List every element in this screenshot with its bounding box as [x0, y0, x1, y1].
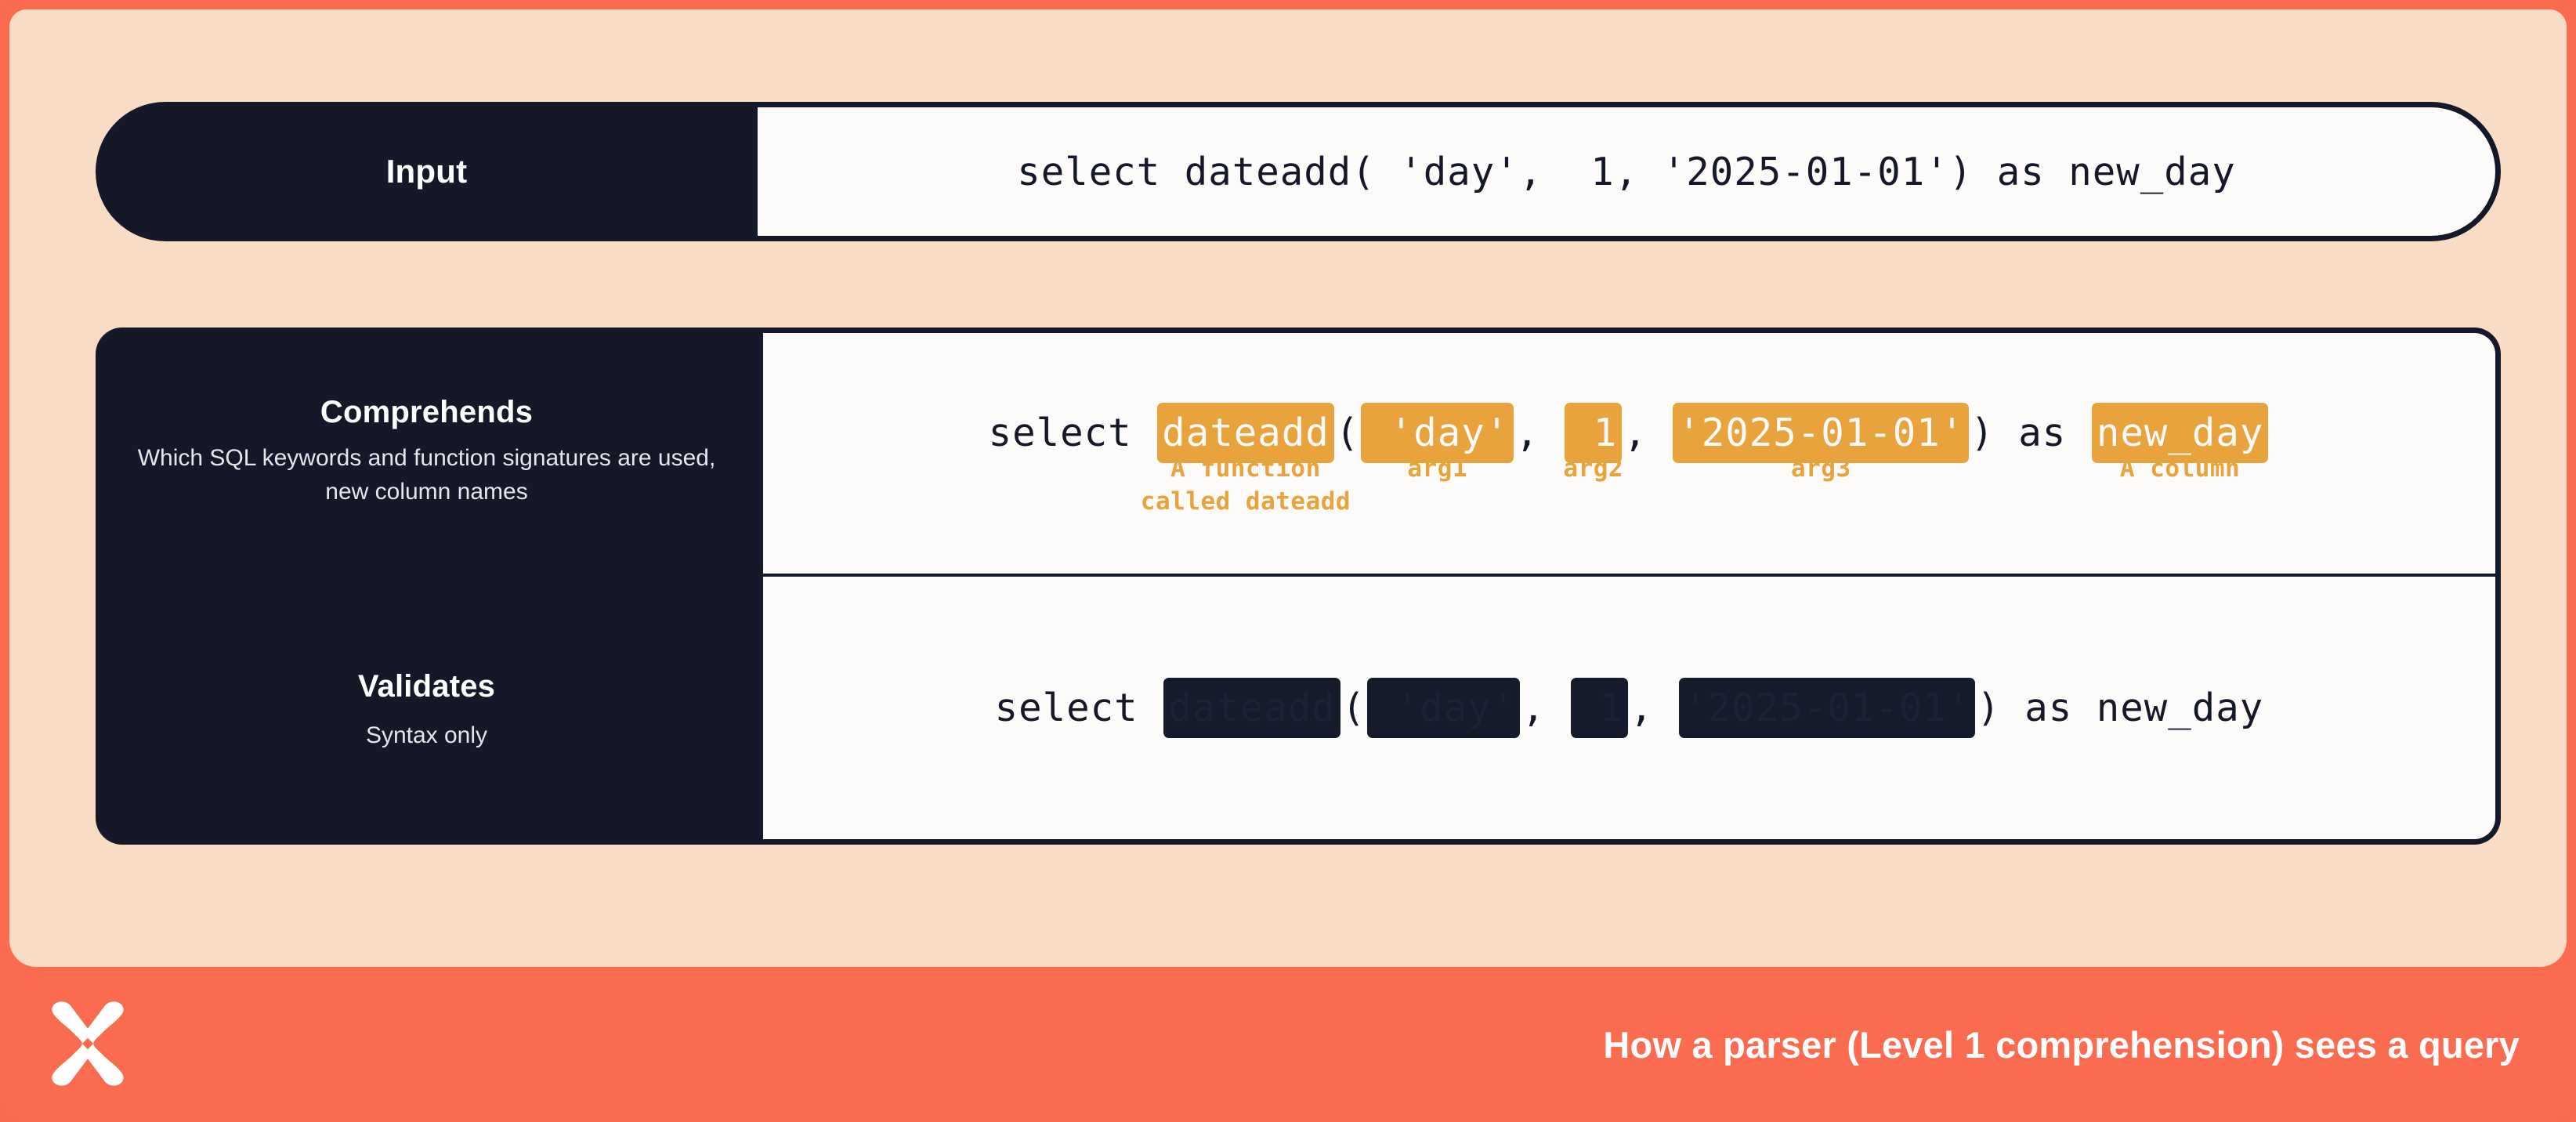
code-token: , [1521, 678, 1569, 738]
footer-bar: How a parser (Level 1 comprehension) see… [0, 967, 2576, 1122]
plain-token: select [995, 678, 1163, 738]
plain-token: ( [1342, 678, 1366, 738]
input-query-text: select dateadd( 'day', 1, '2025-01-01') … [1017, 150, 2236, 194]
plain-token: ) as [1970, 403, 2090, 463]
validates-redacted-query: select dateadd( 'day', 1, '2025-01-01') … [995, 678, 2264, 738]
code-token: ) as [1970, 403, 2090, 463]
token-annotation: arg1 [1407, 453, 1467, 486]
token-annotation: arg2 [1563, 453, 1623, 486]
validates-subtitle: Syntax only [366, 719, 487, 753]
input-query-container: select dateadd( 'day', 1, '2025-01-01') … [758, 102, 2501, 241]
code-token: new_dayA column [2090, 403, 2270, 463]
validates-label-cell: Validates Syntax only [96, 577, 758, 845]
code-token: 'day' [1366, 678, 1521, 738]
redacted-token: 'day' [1367, 678, 1520, 738]
code-token: '2025-01-01' [1677, 678, 1977, 738]
footer-caption: How a parser (Level 1 comprehension) see… [1603, 967, 2520, 1122]
code-token: ( [1342, 678, 1366, 738]
butterfly-x-logo [41, 997, 135, 1091]
validates-body: select dateadd( 'day', 1, '2025-01-01') … [758, 577, 2501, 845]
token-annotation: A column [2120, 453, 2240, 486]
code-token: 1 [1569, 678, 1630, 738]
code-token: , [1623, 403, 1671, 463]
code-token: ) as new_day [1977, 678, 2263, 738]
comprehends-body: select dateaddA function called dateadd(… [758, 328, 2501, 577]
redacted-token: '2025-01-01' [1679, 678, 1975, 738]
comprehends-subtitle: Which SQL keywords and function signatur… [122, 442, 731, 509]
input-card: Input select dateadd( 'day', 1, '2025-01… [96, 102, 2501, 241]
validates-row: Validates Syntax only select dateadd( 'd… [96, 577, 2501, 845]
code-token: dateaddA function called dateadd [1156, 403, 1336, 463]
plain-token: , [1515, 403, 1563, 463]
content-panel: Input select dateadd( 'day', 1, '2025-01… [9, 9, 2567, 967]
validates-title: Validates [358, 669, 495, 704]
code-token: , [1515, 403, 1563, 463]
code-token: dateadd [1162, 678, 1342, 738]
comprehends-row: Comprehends Which SQL keywords and funct… [96, 328, 2501, 577]
redacted-token: 1 [1571, 678, 1628, 738]
input-row-label: Input [96, 102, 758, 241]
parser-behaviour-card: Comprehends Which SQL keywords and funct… [96, 328, 2501, 845]
plain-token: , [1630, 678, 1677, 738]
plain-token: , [1623, 403, 1671, 463]
code-token: 'day'arg1 [1359, 403, 1515, 463]
plain-token: , [1521, 678, 1569, 738]
comprehends-label-cell: Comprehends Which SQL keywords and funct… [96, 328, 758, 577]
code-token: 1arg2 [1563, 403, 1623, 463]
comprehends-title: Comprehends [320, 395, 533, 429]
redacted-token: dateadd [1163, 678, 1340, 738]
plain-token: ( [1336, 403, 1360, 463]
code-token: select [989, 403, 1156, 463]
code-token: , [1630, 678, 1677, 738]
token-annotation: A function called dateadd [1141, 453, 1351, 519]
token-annotation: arg3 [1791, 453, 1851, 486]
code-token: ( [1336, 403, 1360, 463]
plain-token: select [989, 403, 1156, 463]
comprehends-annotated-query: select dateaddA function called dateadd(… [989, 403, 2270, 463]
code-token: select [995, 678, 1163, 738]
code-token: '2025-01-01'arg3 [1671, 403, 1970, 463]
infographic-frame: Input select dateadd( 'day', 1, '2025-01… [0, 0, 2576, 1122]
plain-token: ) as new_day [1977, 678, 2263, 738]
